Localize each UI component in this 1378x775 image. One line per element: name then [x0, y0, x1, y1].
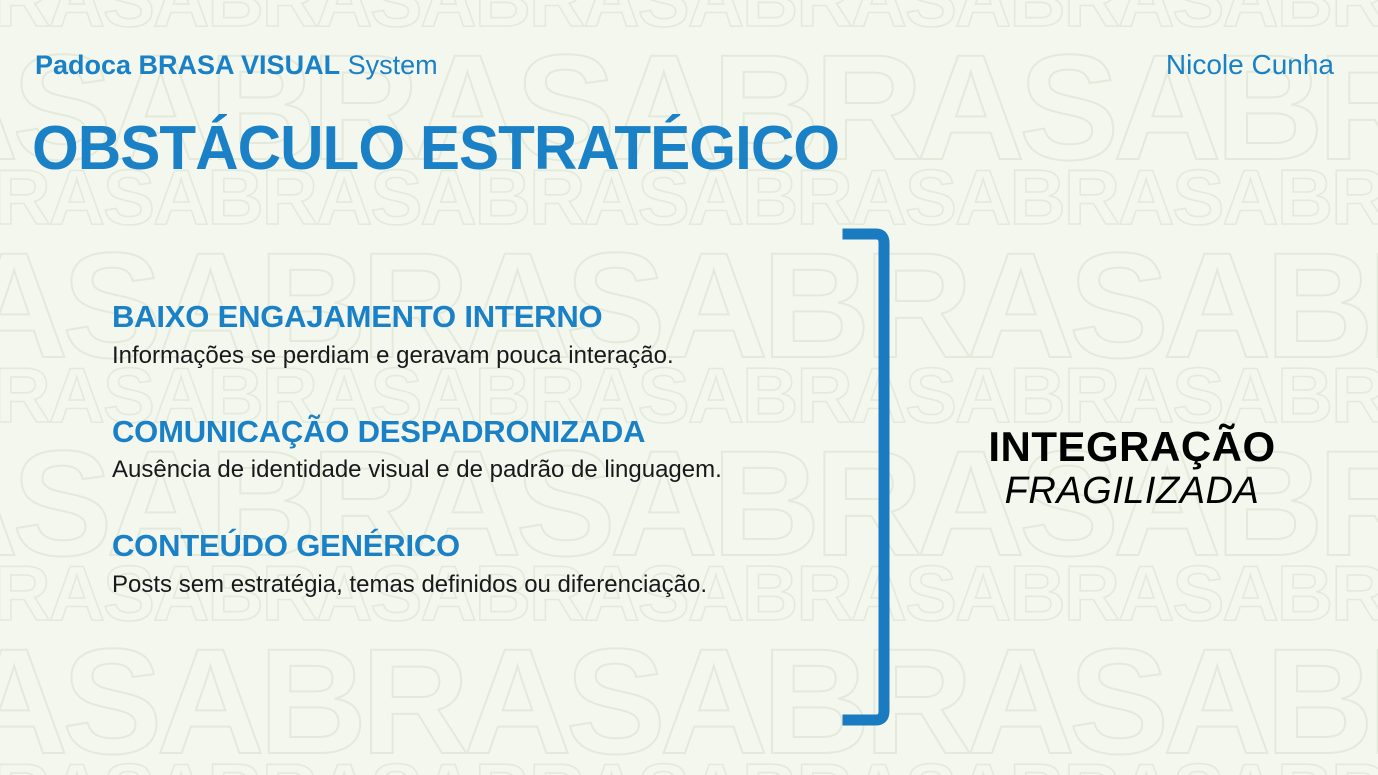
issue-description: Informações se perdiam e geravam pouca i…	[112, 342, 812, 371]
watermark-text-row: BRASABRASABRASABRASABRASABRASABRASABRASA	[0, 752, 1378, 775]
list-item: BAIXO ENGAJAMENTO INTERNO Informações se…	[112, 300, 812, 371]
callout-primary-text: INTEGRAÇÃO	[912, 424, 1352, 469]
watermark-text-row: BRASABRASABRASABRASABRASABRASABRASABRASA	[0, 0, 1378, 38]
issue-title: CONTEÚDO GENÉRICO	[112, 529, 812, 564]
page-title: OBSTÁCULO ESTRATÉGICO	[32, 116, 839, 182]
list-item: COMUNICAÇÃO DESPADRONIZADA Ausência de i…	[112, 415, 812, 486]
brand-logo: Padoca BRASA VISUAL System	[35, 52, 438, 79]
slide-canvas: BRASABRASABRASABRASABRASABRASABRASABRASA…	[0, 0, 1378, 775]
issue-title: COMUNICAÇÃO DESPADRONIZADA	[112, 415, 812, 450]
issues-list: BAIXO ENGAJAMENTO INTERNO Informações se…	[112, 300, 812, 600]
issue-description: Posts sem estratégia, temas definidos ou…	[112, 571, 812, 600]
issue-description: Ausência de identidade visual e de padrã…	[112, 456, 812, 485]
watermark-text-row: ASABRASABRASABRASABRASABRASABRASA	[0, 626, 1378, 775]
slide-header: Padoca BRASA VISUAL System Nicole Cunha	[35, 46, 1334, 84]
issue-title: BAIXO ENGAJAMENTO INTERNO	[112, 300, 812, 335]
callout-block: INTEGRAÇÃO FRAGILIZADA	[912, 424, 1352, 513]
brand-name-bold: Padoca BRASA VISUAL	[35, 50, 340, 80]
list-item: CONTEÚDO GENÉRICO Posts sem estratégia, …	[112, 529, 812, 600]
grouping-bracket-icon	[842, 228, 890, 726]
callout-secondary-text: FRAGILIZADA	[912, 471, 1352, 513]
author-name: Nicole Cunha	[1166, 51, 1334, 79]
brand-name-light: System	[340, 50, 438, 80]
